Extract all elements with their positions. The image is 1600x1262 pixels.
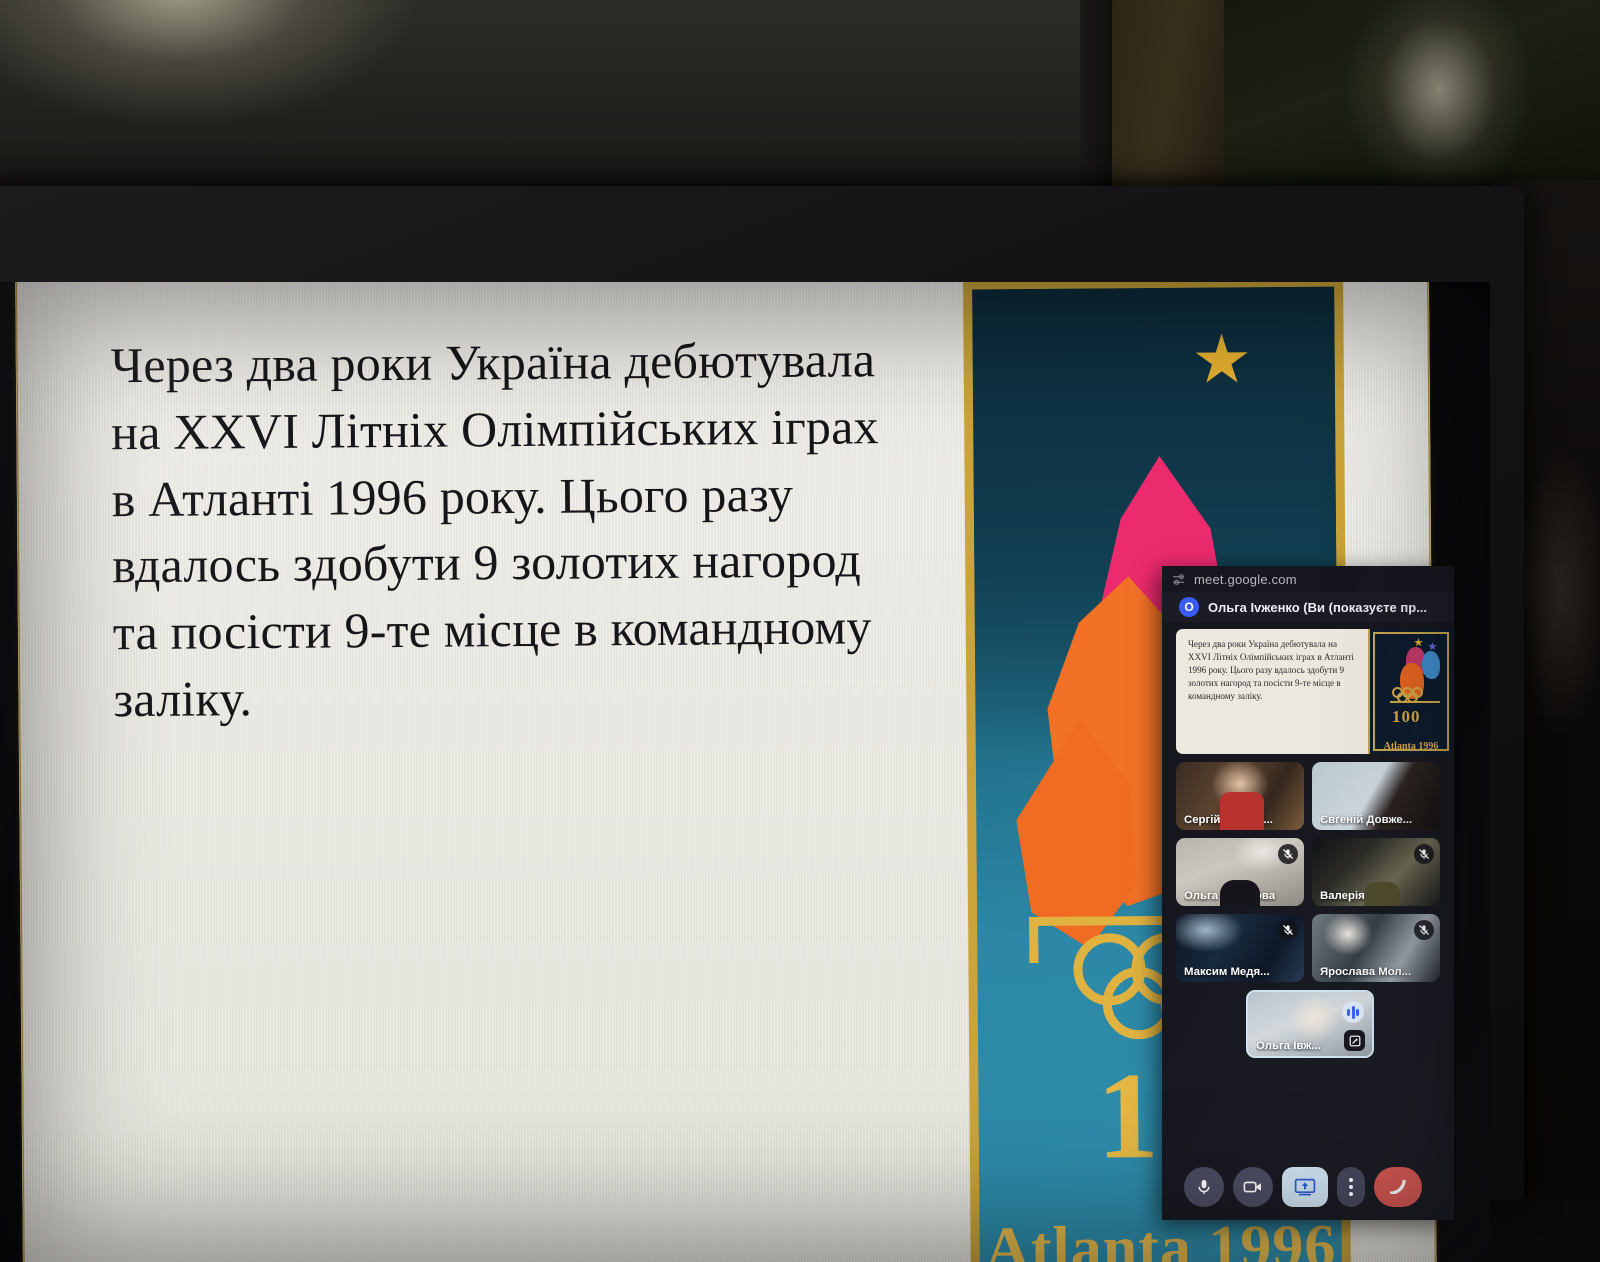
presenter-bar[interactable]: O Ольга Іvженко (Ви (показуєте пр...	[1162, 592, 1454, 622]
participant-name: Сергій Лаутен...	[1184, 814, 1288, 826]
slide-body-text: Через два роки Україна дебютувала на XXV…	[110, 326, 903, 733]
participant-tile[interactable]: Ярослава Мол...	[1312, 914, 1440, 982]
participant-name: Ярослава Мол...	[1320, 966, 1424, 978]
shared-screen-poster: 100 Atlanta 1996	[1368, 629, 1452, 754]
meet-control-bar	[1162, 1154, 1454, 1220]
framed-photo	[1224, 0, 1600, 196]
camera-button[interactable]	[1233, 1167, 1273, 1207]
participant-name: Ольга Пирогова	[1184, 890, 1288, 902]
laptop-screen: Через два роки Україна дебютувала на XXV…	[0, 282, 1490, 1262]
participant-name: Євгеній Довже...	[1320, 814, 1424, 826]
google-meet-window[interactable]: meet.google.com O Ольга Іvженко (Ви (пок…	[1162, 566, 1454, 1220]
door-panel	[1112, 0, 1224, 192]
phone-hangup-icon	[1386, 1180, 1410, 1194]
tune-icon[interactable]	[1172, 573, 1187, 586]
end-call-button[interactable]	[1374, 1167, 1422, 1207]
poster-thumb-centennial: 100	[1392, 707, 1421, 727]
laptop-bezel-top	[0, 186, 1524, 282]
participant-name: Валерія ...	[1320, 890, 1424, 902]
participant-tile[interactable]: Валерія ...	[1312, 838, 1440, 906]
participant-tile[interactable]: Сергій Лаутен...	[1176, 762, 1304, 830]
mic-muted-icon	[1414, 920, 1434, 940]
participant-row-self: Ольга Івж...	[1176, 990, 1454, 1058]
participant-tile-self[interactable]: Ольга Івж...	[1246, 990, 1374, 1058]
poster-thumb-title: Atlanta 1996	[1370, 741, 1452, 752]
participant-tile[interactable]: Євгеній Довже...	[1312, 762, 1440, 830]
more-options-button[interactable]	[1337, 1167, 1365, 1207]
present-screen-button[interactable]	[1282, 1167, 1328, 1207]
mic-muted-icon	[1414, 844, 1434, 864]
speaking-indicator-icon	[1342, 1001, 1364, 1023]
laptop-device: Через два роки Україна дебютувала на XXV…	[0, 186, 1524, 1200]
present-icon	[1294, 1178, 1316, 1196]
participant-row: Ольга Пирогова Валерія ...	[1176, 838, 1454, 906]
shared-screen-thumbnail[interactable]: Через два роки Україна дебютувала на XXV…	[1176, 629, 1452, 754]
shared-screen-text: Через два роки Україна дебютувала на XXV…	[1176, 629, 1368, 754]
presenter-label: Ольга Іvженко (Ви (показуєте пр...	[1208, 600, 1427, 615]
participant-tile[interactable]: Ольга Пирогова	[1176, 838, 1304, 906]
url-text[interactable]: meet.google.com	[1194, 572, 1297, 587]
participant-row: Сергій Лаутен... Євгеній Довже...	[1176, 762, 1454, 830]
mic-muted-icon	[1278, 920, 1298, 940]
participant-tile[interactable]: Максим Медя...	[1176, 914, 1304, 982]
participant-row: Максим Медя... Ярослава Мол...	[1176, 914, 1454, 982]
camera-icon	[1243, 1179, 1263, 1195]
poster-gold-bar-tick	[1029, 917, 1038, 963]
poster-thumb-flame-blue	[1422, 651, 1440, 679]
mic-icon	[1195, 1178, 1213, 1196]
participant-name: Максим Медя...	[1184, 966, 1288, 978]
mic-muted-icon	[1278, 844, 1298, 864]
participant-grid: Сергій Лаутен... Євгеній Довже...	[1176, 762, 1454, 1058]
avatar: O	[1179, 597, 1199, 617]
microphone-button[interactable]	[1184, 1167, 1224, 1207]
participant-name: Ольга Івж...	[1256, 1040, 1356, 1052]
browser-url-bar[interactable]: meet.google.com	[1162, 566, 1454, 592]
